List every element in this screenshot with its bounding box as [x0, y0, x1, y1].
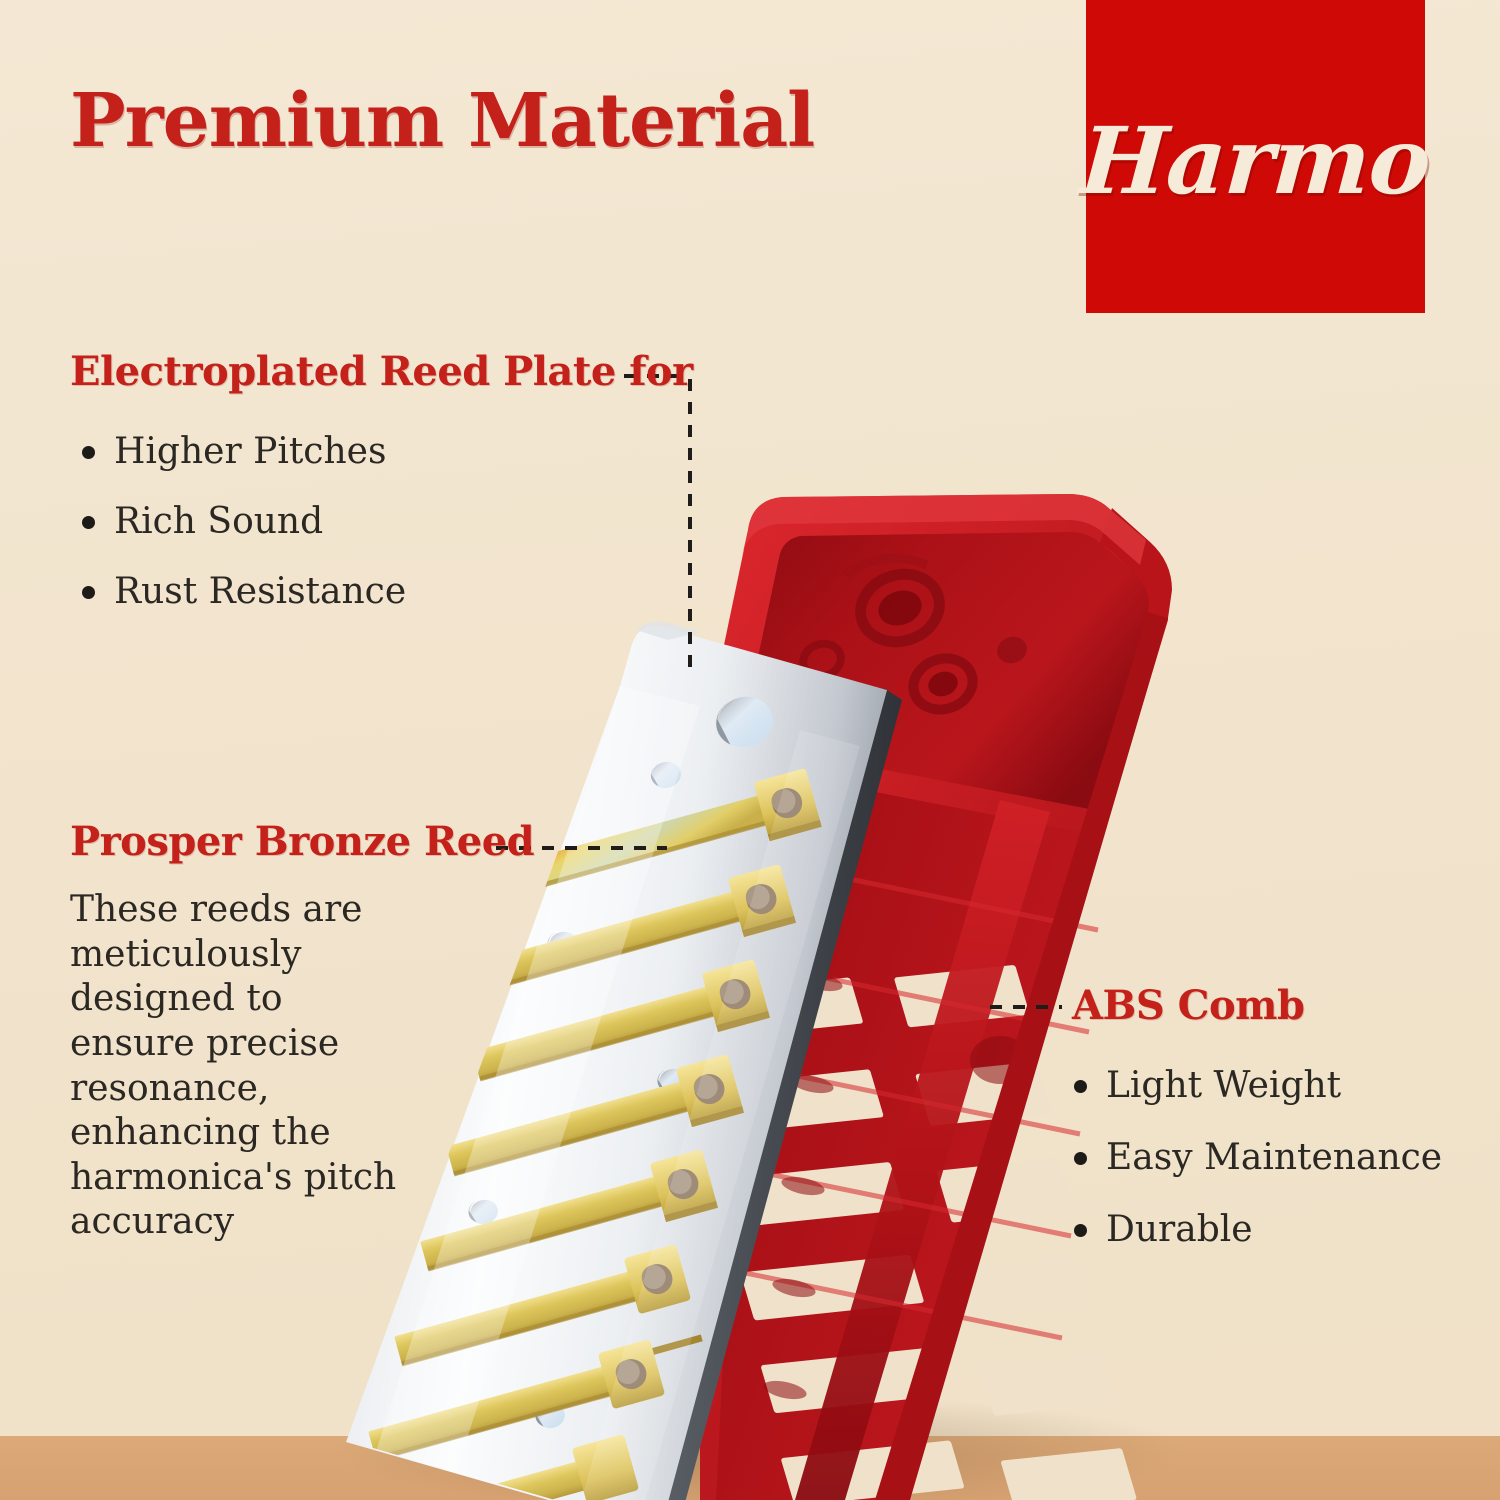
bullet-dot-icon [82, 446, 95, 459]
section-heading-bronze-reed: Prosper Bronze Reed [70, 822, 534, 862]
list-item-label: Higher Pitches [114, 434, 386, 470]
brand-logo-text: Harmo [1078, 115, 1433, 207]
section-heading-abs-comb: ABS Comb [1072, 986, 1304, 1026]
list-item: Durable [1074, 1212, 1442, 1248]
section-heading-reed-plate: Electroplated Reed Plate for [70, 352, 693, 392]
bullet-dot-icon [1074, 1080, 1087, 1093]
infographic-canvas: Harmo Premium Material Electroplated Ree… [0, 0, 1500, 1500]
list-item: Light Weight [1074, 1068, 1442, 1104]
bullet-list-reed-plate: Higher Pitches Rich Sound Rust Resistanc… [82, 434, 406, 644]
section-paragraph-bronze-reed: These reeds are meticulously designed to… [70, 888, 415, 1245]
bullet-dot-icon [82, 516, 95, 529]
list-item-label: Rust Resistance [114, 574, 406, 610]
bullet-dot-icon [82, 586, 95, 599]
list-item: Easy Maintenance [1074, 1140, 1442, 1176]
bullet-dot-icon [1074, 1224, 1087, 1237]
list-item-label: Easy Maintenance [1106, 1140, 1442, 1176]
list-item-label: Light Weight [1106, 1068, 1341, 1104]
bullet-list-abs-comb: Light Weight Easy Maintenance Durable [1074, 1068, 1442, 1284]
bullet-dot-icon [1074, 1152, 1087, 1165]
list-item-label: Durable [1106, 1212, 1253, 1248]
list-item: Higher Pitches [82, 434, 406, 470]
page-title: Premium Material [70, 84, 814, 158]
list-item: Rust Resistance [82, 574, 406, 610]
list-item-label: Rich Sound [114, 504, 323, 540]
brand-logo: Harmo [1086, 0, 1425, 313]
list-item: Rich Sound [82, 504, 406, 540]
